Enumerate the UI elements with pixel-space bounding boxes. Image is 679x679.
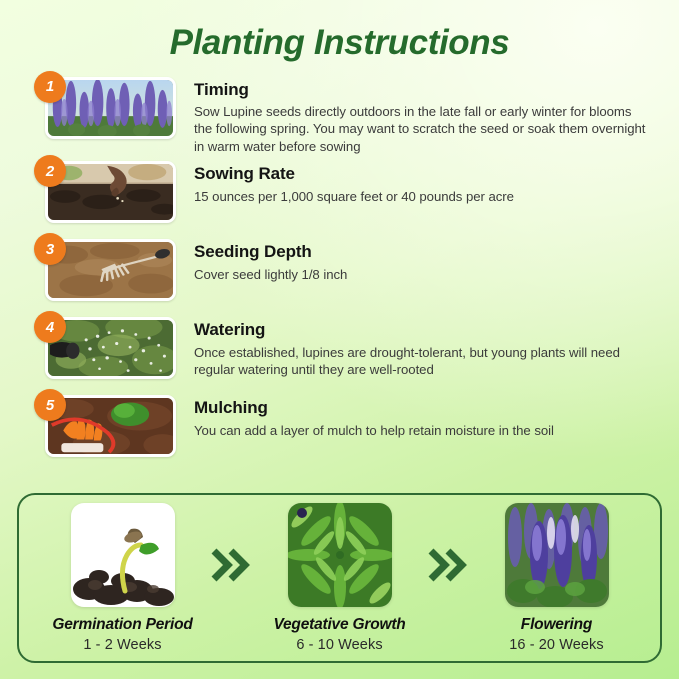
double-chevron-right-icon (425, 548, 471, 582)
step-text: Mulching You can add a layer of mulch to… (194, 395, 663, 439)
growth-timeline-panel: Germination Period 1 - 2 Weeks (17, 493, 662, 663)
step-text: Sowing Rate 15 ounces per 1,000 square f… (194, 161, 663, 205)
steps-list: 1 (0, 77, 679, 468)
step-thumbnail-wrap: 4 (34, 317, 176, 379)
timeline-stage-label: Vegetative Growth (273, 616, 405, 634)
step-description: Sow Lupine seeds directly outdoors in th… (194, 103, 646, 156)
timeline-stage: Germination Period 1 - 2 Weeks (37, 503, 208, 653)
timeline-stage-weeks: 6 - 10 Weeks (296, 637, 382, 653)
sprouting-seedling-photo (71, 503, 175, 607)
step-description: Once established, lupines are drought-to… (194, 344, 646, 379)
timeline-stage: Vegetative Growth 6 - 10 Weeks (254, 503, 425, 653)
page-title: Planting Instructions (0, 0, 679, 63)
step-description: 15 ounces per 1,000 square feet or 40 po… (194, 188, 646, 206)
step-description: You can add a layer of mulch to help ret… (194, 422, 646, 440)
step-title: Watering (194, 319, 663, 340)
lupine-blooms-photo (505, 503, 609, 607)
step-text: Timing Sow Lupine seeds directly outdoor… (194, 77, 663, 156)
planting-instructions-infographic: Planting Instructions 1 (0, 0, 679, 679)
step-row: 3 (34, 239, 663, 311)
step-row: 4 (34, 317, 663, 389)
step-row: 1 (34, 77, 663, 156)
step-title: Seeding Depth (194, 241, 663, 262)
step-row: 2 (34, 161, 663, 233)
timeline-stage: Flowering 16 - 20 Weeks (471, 503, 642, 653)
double-chevron-right-icon (208, 548, 254, 582)
step-row: 5 (34, 395, 663, 467)
timeline-stage-label: Germination Period (52, 616, 192, 634)
step-thumbnail-wrap: 1 (34, 77, 176, 139)
step-thumbnail-wrap: 2 (34, 161, 176, 223)
timeline-stage-weeks: 16 - 20 Weeks (509, 637, 604, 653)
step-text: Watering Once established, lupines are d… (194, 317, 663, 378)
step-title: Sowing Rate (194, 163, 663, 184)
step-thumbnail-wrap: 3 (34, 239, 176, 301)
step-title: Timing (194, 79, 663, 100)
step-description: Cover seed lightly 1/8 inch (194, 266, 646, 284)
timeline-stage-label: Flowering (521, 616, 592, 634)
step-text: Seeding Depth Cover seed lightly 1/8 inc… (194, 239, 663, 283)
step-thumbnail-wrap: 5 (34, 395, 176, 457)
timeline-stage-weeks: 1 - 2 Weeks (83, 637, 161, 653)
lupine-foliage-photo (288, 503, 392, 607)
step-number-badge: 1 (34, 71, 66, 103)
step-title: Mulching (194, 397, 663, 418)
